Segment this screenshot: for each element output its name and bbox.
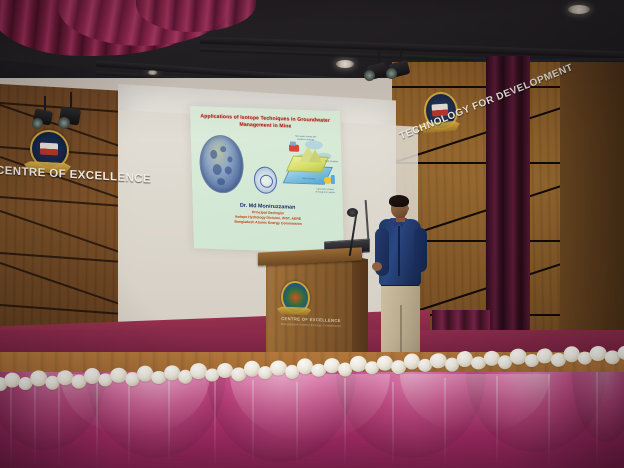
spotlight-right-2-lens	[386, 68, 397, 79]
slide-presenter-block: Dr. Md Moniruzzaman Principal Geologist …	[203, 200, 334, 228]
speaker-podium	[266, 258, 352, 356]
presenter-right-arm	[414, 228, 427, 272]
presentation-slide: Applications of Isotope Techniques in Gr…	[190, 106, 344, 253]
diagram-label-right: Well sampling	[323, 161, 339, 164]
diagram-borehole-icon	[331, 175, 335, 184]
slide-hydrology-diagram: Rain water isotope and elevation recharg…	[283, 135, 339, 199]
diagram-label-bottom: Light water isotope recharge from aquife…	[312, 188, 338, 194]
slide-globe-graphic	[199, 134, 245, 194]
auditorium-presentation-photo: Applications of Isotope Techniques in Gr…	[0, 0, 624, 468]
spotlight-right-1-lens	[364, 70, 375, 81]
slide-iaea-emblem-icon	[254, 166, 278, 194]
presenter-hand	[372, 262, 382, 271]
spotlight-left-2-lens	[58, 117, 70, 129]
ceiling-light	[336, 60, 354, 68]
diagram-hill-secondary	[308, 149, 322, 163]
presenter-shirt-placket	[398, 226, 400, 276]
ceiling-light	[568, 5, 590, 14]
podium-emblem-ribbon	[277, 306, 311, 315]
presenter-ear	[405, 206, 409, 211]
spotlight-left-1-lens	[32, 118, 43, 129]
diagram-mine-truck-icon	[289, 144, 299, 151]
diagram-label-top: Rain water isotope and elevation recharg…	[291, 136, 321, 142]
microphone-head-icon	[347, 208, 358, 217]
slide-title: Applications of Isotope Techniques in Gr…	[196, 113, 334, 133]
wood-panel-far-right	[560, 62, 624, 362]
